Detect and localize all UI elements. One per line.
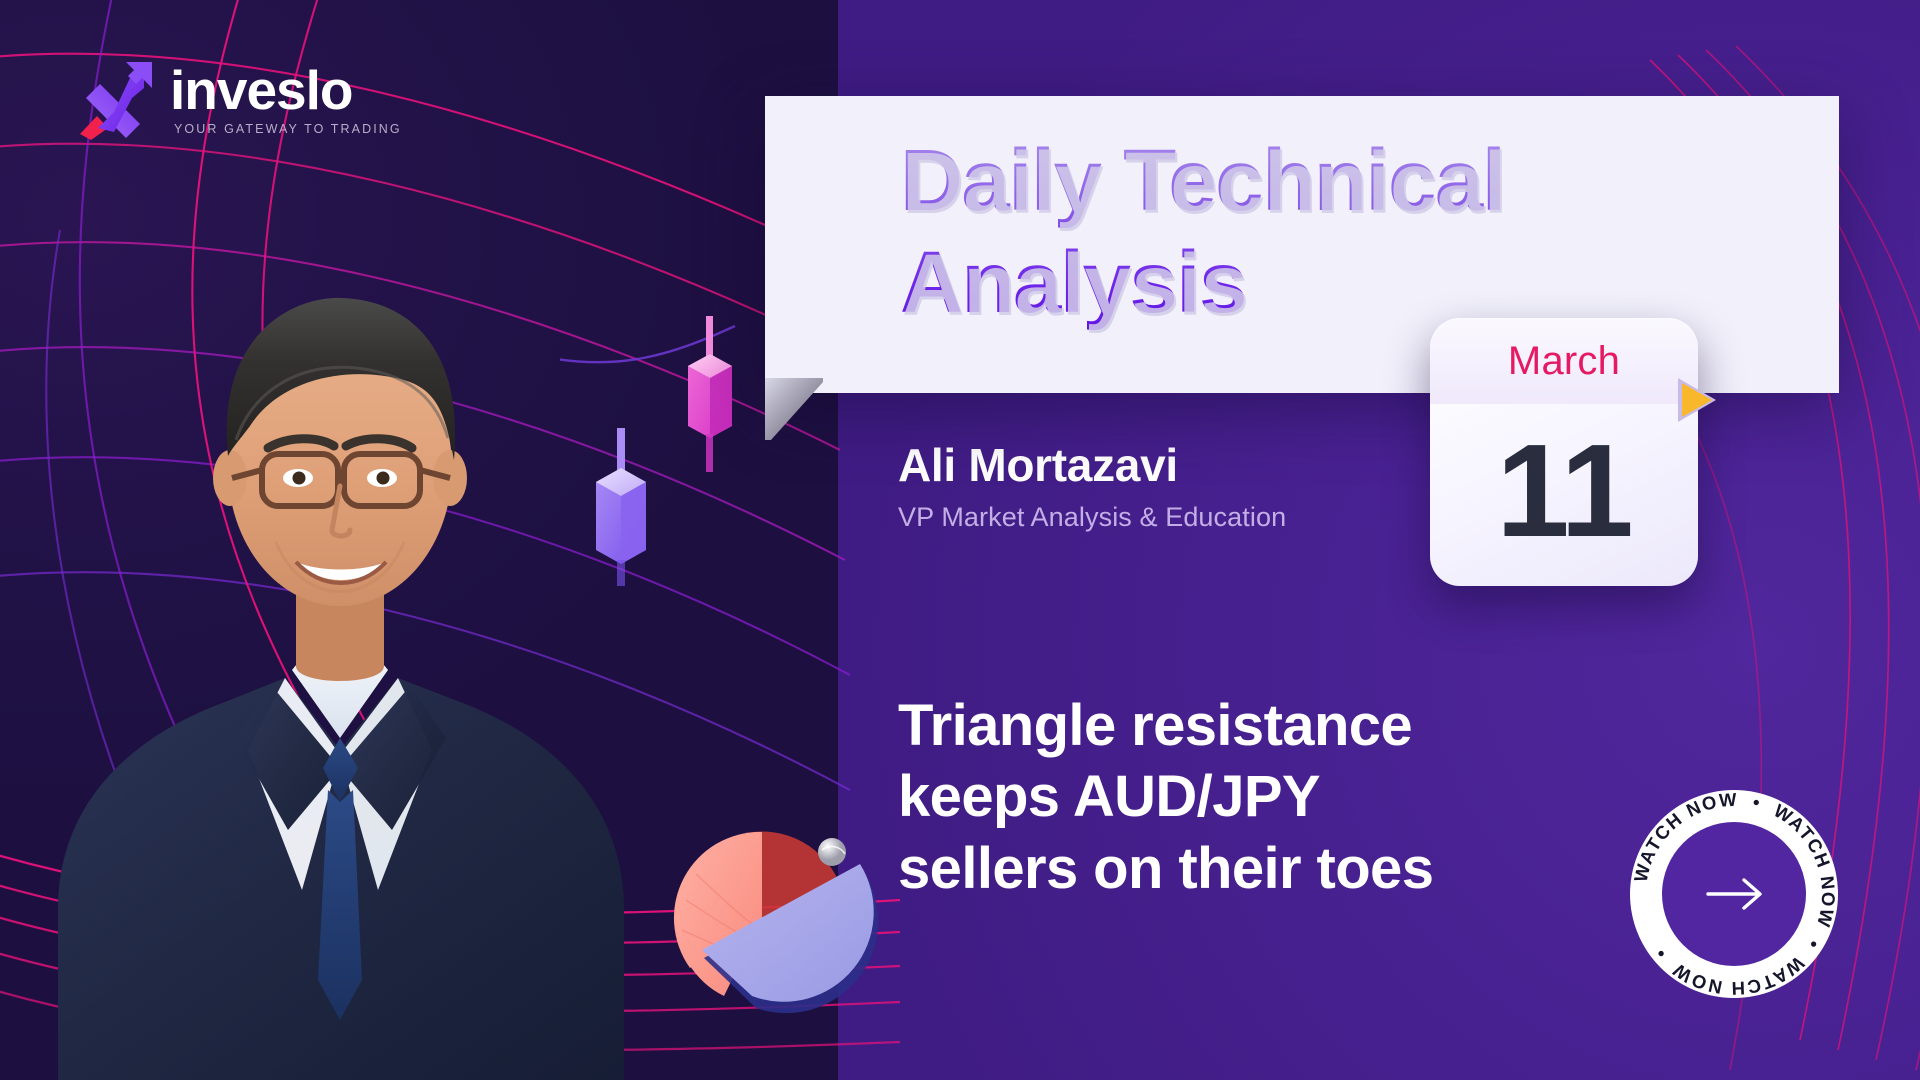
calendar-widget: March 11 [1430, 318, 1698, 586]
card-fold-corner-icon [765, 378, 823, 440]
brand-logo[interactable]: inveslo YOUR GATEWAY TO TRADING [78, 58, 402, 140]
3d-candlestick-icon [560, 310, 760, 590]
headline: Triangle resistance keeps AUD/JPY seller… [898, 690, 1618, 904]
headline-line-2: keeps AUD/JPY [898, 761, 1618, 832]
watch-now-cta-button[interactable]: WATCH NOW • WATCH NOW • WATCH NOW • [1630, 790, 1838, 998]
calendar-month: March [1508, 339, 1620, 384]
brand-tagline: YOUR GATEWAY TO TRADING [174, 123, 402, 136]
presenter-name: Ali Mortazavi [898, 438, 1286, 492]
title-line-2: Analysis [900, 234, 1246, 331]
brand-name: inveslo [170, 63, 402, 118]
headline-line-3: sellers on their toes [898, 833, 1618, 904]
inveslo-arrow-logo-icon [78, 58, 156, 140]
calendar-corner-triangle-icon [1676, 376, 1718, 424]
3d-pie-chart-icon [660, 810, 900, 1040]
page-title: Daily Technical Analysis [900, 130, 1700, 334]
headline-line-1: Triangle resistance [898, 690, 1618, 761]
presenter-role: VP Market Analysis & Education [898, 502, 1286, 533]
presenter-info: Ali Mortazavi VP Market Analysis & Educa… [898, 438, 1286, 533]
title-line-1: Daily Technical [900, 132, 1504, 229]
calendar-header: March [1430, 318, 1698, 404]
promo-banner: inveslo YOUR GATEWAY TO TRADING Daily Te… [0, 0, 1920, 1080]
calendar-day: 11 [1430, 404, 1698, 586]
